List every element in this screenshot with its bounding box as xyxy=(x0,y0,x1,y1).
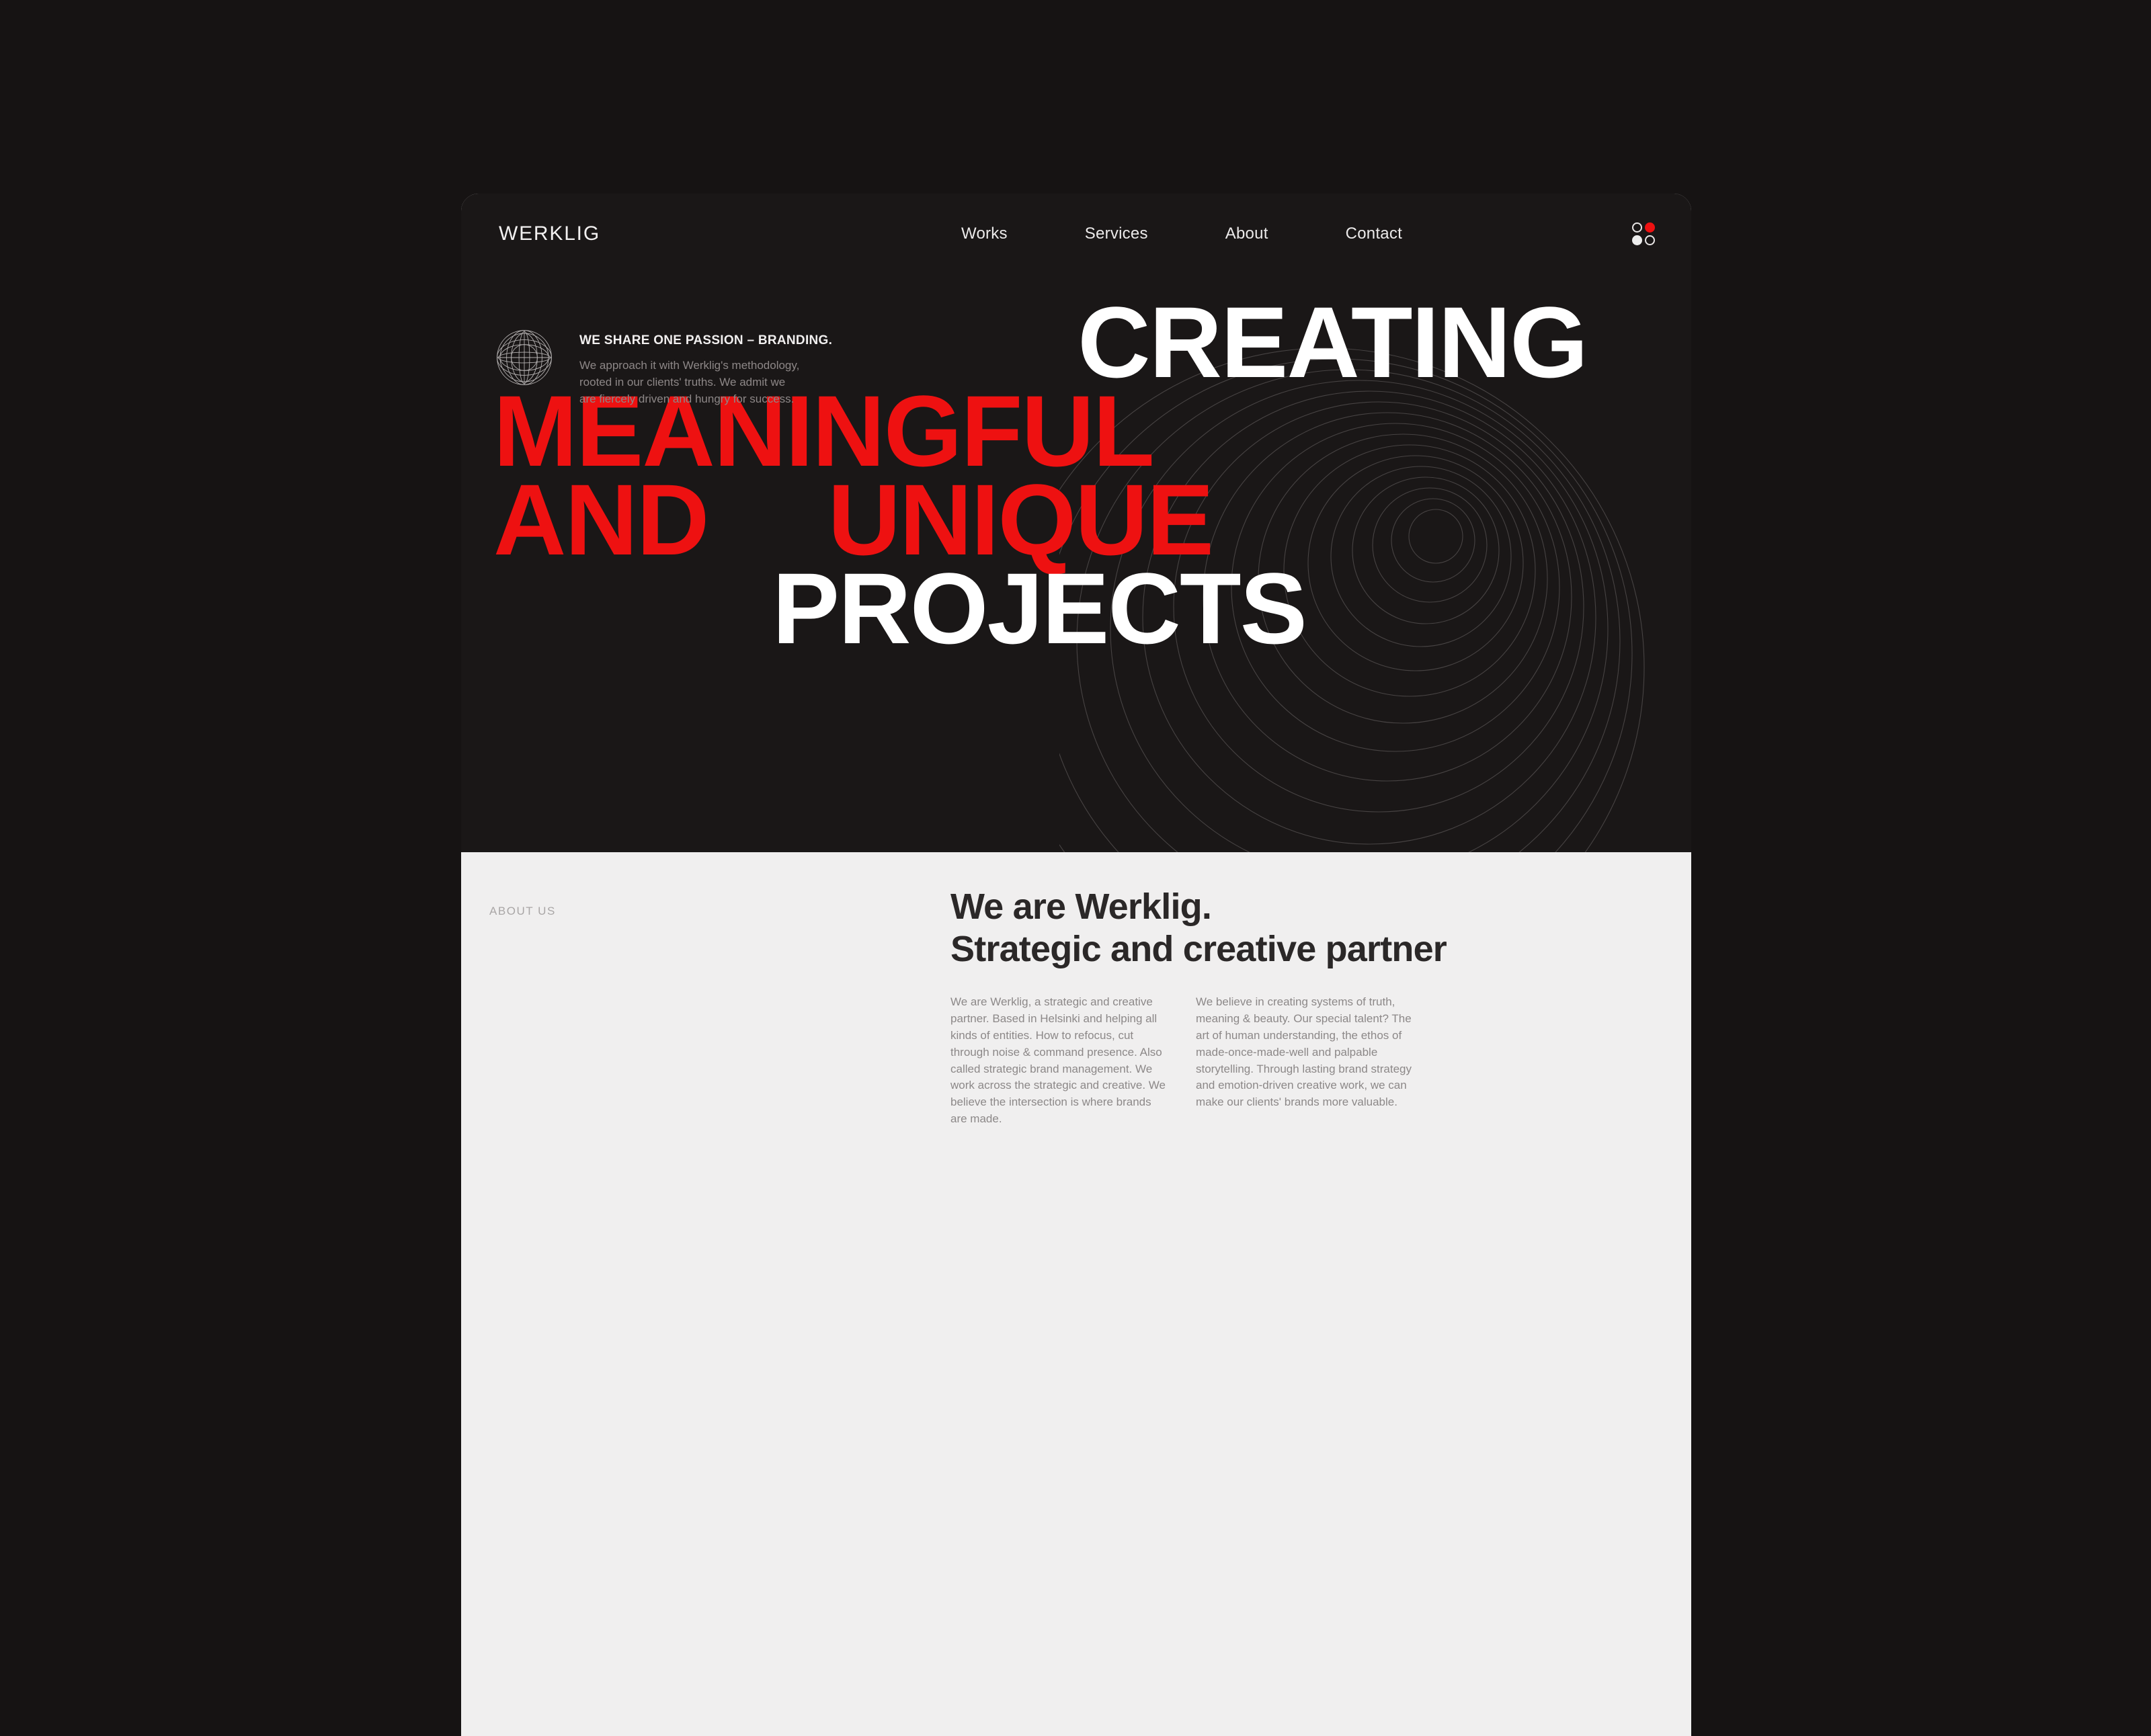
hero-intro-body: We approach it with Werklig's methodolog… xyxy=(579,357,801,407)
menu-dot-bottom-right xyxy=(1645,235,1655,245)
about-section-label: ABOUT US xyxy=(489,905,556,918)
globe-wireframe-icon xyxy=(495,328,554,387)
brand-logo[interactable]: WERKLIG xyxy=(499,222,600,245)
nav-link-about[interactable]: About xyxy=(1225,224,1268,243)
hero-intro-title: WE SHARE ONE PASSION – BRANDING. xyxy=(579,333,832,348)
nav-links: Works Services About Contact xyxy=(961,224,1402,243)
about-paragraph-left: We are Werklig, a strategic and creative… xyxy=(950,994,1170,1128)
menu-dot-top-right xyxy=(1645,222,1655,233)
menu-dot-bottom-left xyxy=(1632,235,1642,245)
about-content: We are Werklig. Strategic and creative p… xyxy=(950,886,1655,1128)
hero-intro-block: WE SHARE ONE PASSION – BRANDING. We appr… xyxy=(495,328,832,407)
about-paragraph-right: We believe in creating systems of truth,… xyxy=(1196,994,1416,1128)
nav-link-services[interactable]: Services xyxy=(1085,224,1148,243)
site-page-frame: WERKLIG Works Services About Contact xyxy=(461,194,1691,1736)
headline-line-3-and: AND xyxy=(493,463,708,576)
about-heading-line-2: Strategic and creative partner xyxy=(950,929,1447,969)
menu-dot-top-left xyxy=(1632,222,1642,233)
nav-link-contact[interactable]: Contact xyxy=(1346,224,1402,243)
headline-line-3: ANDUNIQUE xyxy=(461,477,1691,562)
main-navigation: WERKLIG Works Services About Contact xyxy=(461,194,1691,274)
headline-line-4: PROJECTS xyxy=(461,566,1691,651)
about-heading-line-1: We are Werklig. xyxy=(950,886,1211,927)
nav-link-works[interactable]: Works xyxy=(961,224,1008,243)
about-heading: We are Werklig. Strategic and creative p… xyxy=(950,886,1655,970)
grid-dots-menu-icon[interactable] xyxy=(1632,222,1655,245)
hero-section: WERKLIG Works Services About Contact xyxy=(461,194,1691,852)
about-paragraph-columns: We are Werklig, a strategic and creative… xyxy=(950,994,1655,1128)
about-section: ABOUT US We are Werklig. Strategic and c… xyxy=(461,852,1691,1736)
